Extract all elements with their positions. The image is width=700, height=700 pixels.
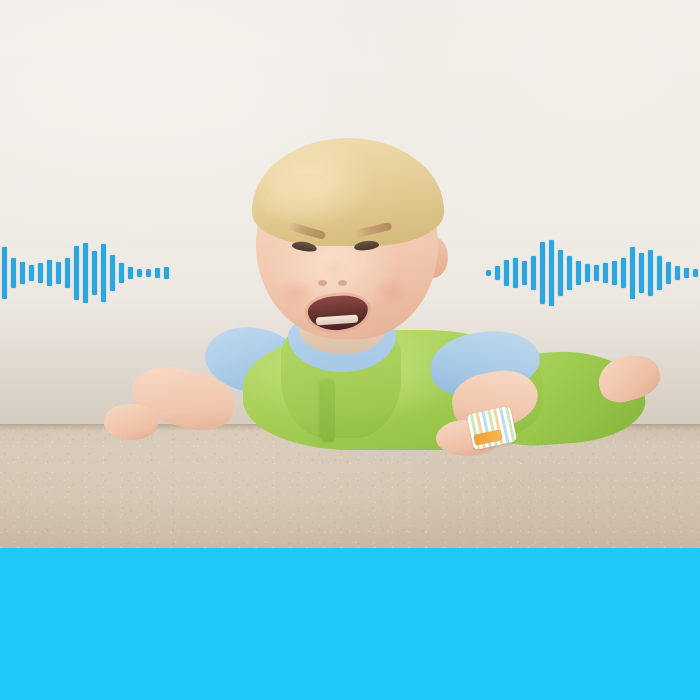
feature-banner: Abnormal Sound Detection Notifies you wh… <box>0 548 700 700</box>
baby-left-nostril <box>318 280 327 286</box>
tapo-feature-banner-image: Abnormal Sound Detection Notifies you wh… <box>0 0 700 700</box>
baby-romper-placket <box>322 380 335 442</box>
baby-left-hand <box>104 404 158 440</box>
baby-right-cheek <box>370 274 414 308</box>
product-photo <box>0 0 700 548</box>
crying-baby <box>0 0 700 548</box>
baby-right-nostril <box>338 280 347 286</box>
